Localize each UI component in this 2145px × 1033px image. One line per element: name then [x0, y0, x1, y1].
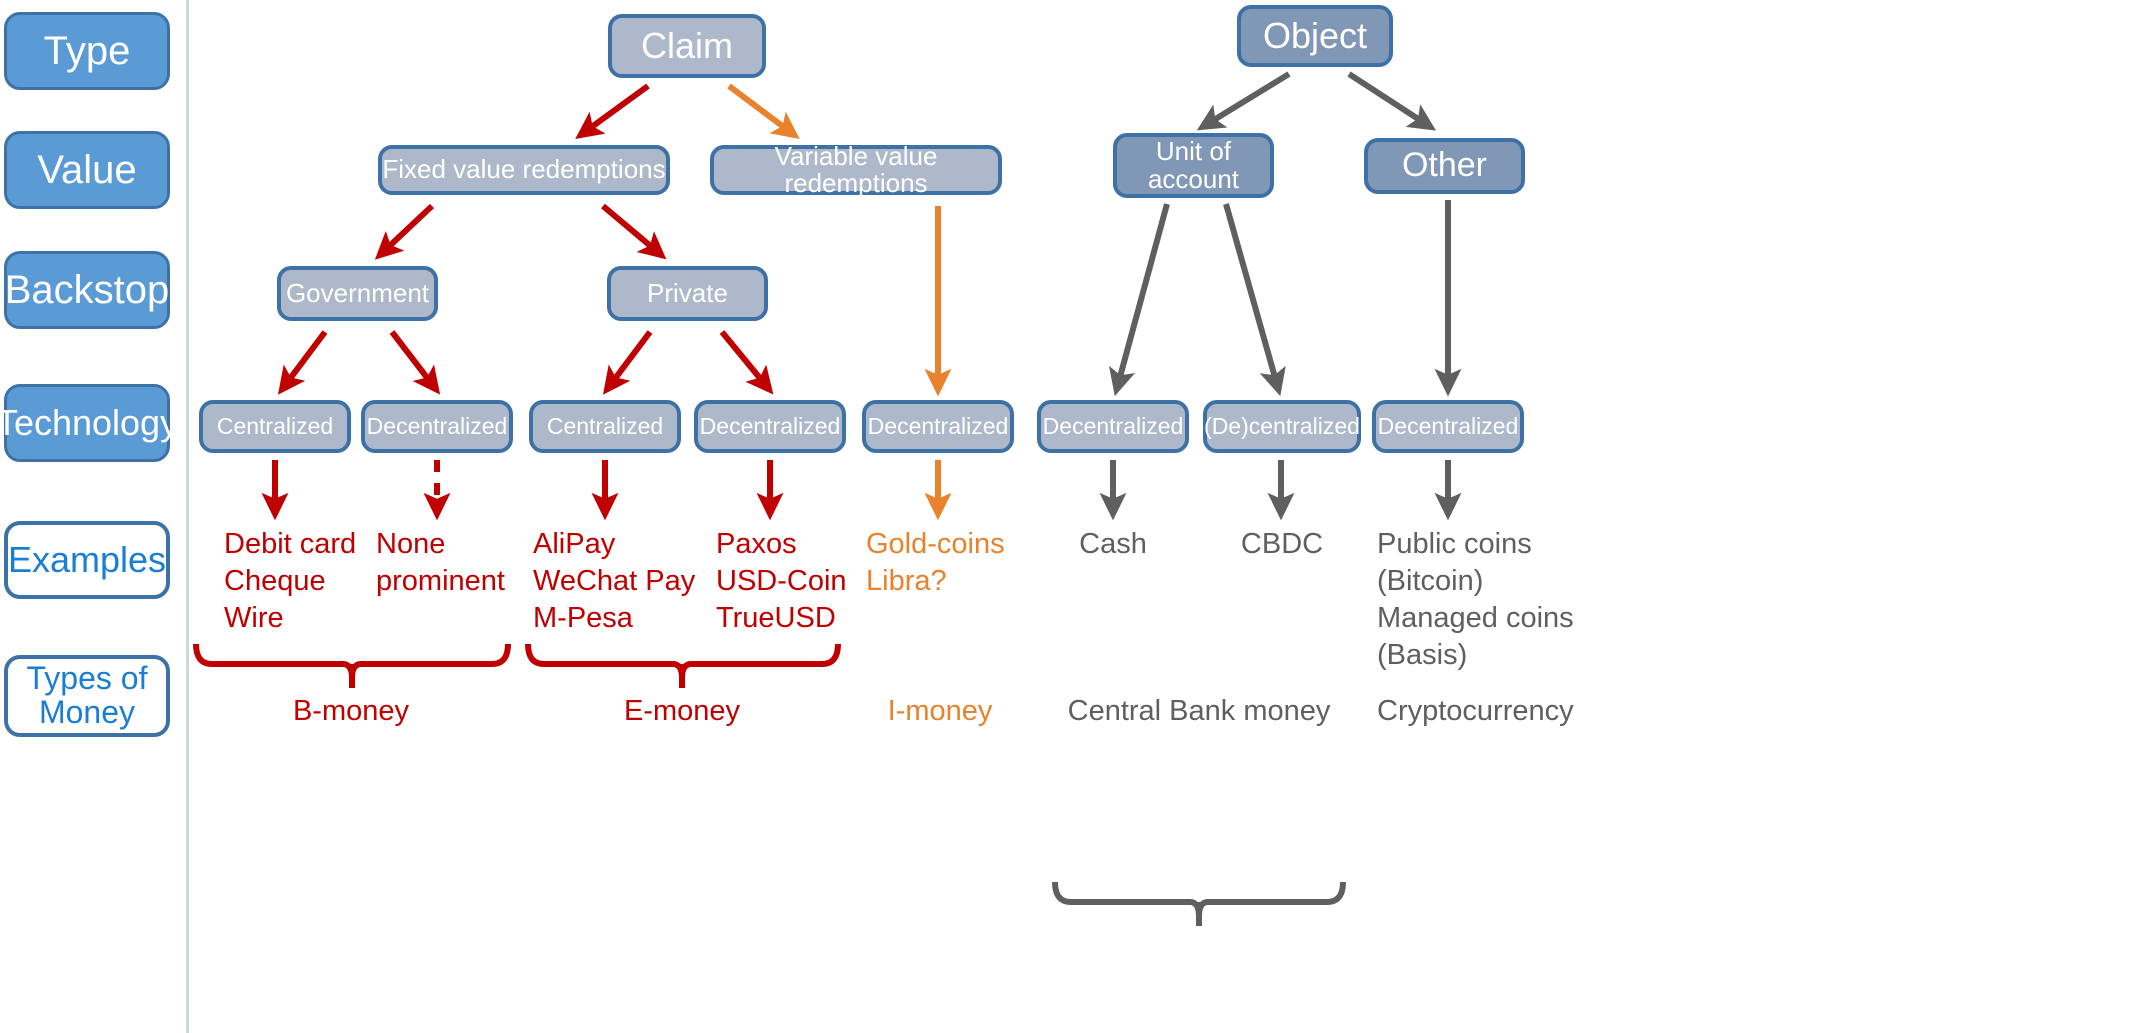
node-government[interactable]: Government [277, 266, 438, 321]
examples-private-centralized: AliPay WeChat Pay M-Pesa [533, 526, 733, 637]
arrow-government-to-decentralized [392, 332, 435, 388]
examples-variable-value: Gold-coins Libra? [866, 526, 1046, 600]
arrow-claim-to-variable [729, 86, 793, 134]
rail-divider [186, 0, 189, 1033]
node-fixed-value-redemptions[interactable]: Fixed value redemptions [378, 145, 670, 195]
arrow-uoa-to-de-centralized [1226, 204, 1278, 388]
examples-other: Public coins (Bitcoin) Managed coins (Ba… [1377, 526, 1607, 674]
money-type-b-money: B-money [228, 693, 474, 730]
node-other[interactable]: Other [1364, 138, 1525, 194]
node-tech-private-centralized[interactable]: Centralized [529, 400, 681, 453]
examples-gov-decentralized: None prominent [376, 526, 556, 600]
node-tech-uoa-de-centralized[interactable]: (De)centralized [1203, 400, 1361, 453]
arrow-private-to-centralized [608, 332, 650, 388]
examples-cash: Cash [1037, 526, 1189, 563]
rail-label-technology: Technology [4, 384, 170, 462]
brace-central-bank-money [1055, 882, 1343, 916]
money-type-e-money: E-money [552, 693, 812, 730]
node-tech-other-decentralized[interactable]: Decentralized [1372, 400, 1524, 453]
arrow-fixed-to-government [381, 206, 432, 254]
arrow-private-to-decentralized [722, 332, 768, 388]
arrow-uoa-to-decentralized [1117, 204, 1167, 388]
arrow-fixed-to-private [603, 206, 660, 254]
brace-b-money [196, 644, 508, 678]
arrow-object-to-other [1349, 74, 1429, 126]
node-tech-uoa-decentralized[interactable]: Decentralized [1037, 400, 1189, 453]
examples-cbdc: CBDC [1203, 526, 1361, 563]
node-claim[interactable]: Claim [608, 14, 766, 78]
node-tech-gov-centralized[interactable]: Centralized [199, 400, 351, 453]
rail-label-examples: Examples [4, 521, 170, 599]
diagram-canvas: Type Value Backstop Technology Examples … [0, 0, 2145, 1033]
brace-e-money [528, 644, 838, 678]
money-type-i-money: I-money [866, 693, 1014, 730]
node-variable-value-redemptions[interactable]: Variable value redemptions [710, 145, 1002, 195]
node-object[interactable]: Object [1237, 5, 1393, 67]
rail-label-types-of-money: Types of Money [4, 655, 170, 737]
arrow-object-to-unit-of-account [1204, 74, 1289, 126]
money-type-cryptocurrency: Cryptocurrency [1377, 693, 1607, 730]
connector-layer [0, 0, 2145, 1033]
node-unit-of-account[interactable]: Unit of account [1113, 133, 1274, 198]
rail-label-type: Type [4, 12, 170, 90]
arrow-government-to-centralized [283, 332, 325, 388]
rail-label-value: Value [4, 131, 170, 209]
node-tech-variable-decentralized[interactable]: Decentralized [862, 400, 1014, 453]
node-tech-private-decentralized[interactable]: Decentralized [694, 400, 846, 453]
node-tech-gov-decentralized[interactable]: Decentralized [361, 400, 513, 453]
node-private[interactable]: Private [607, 266, 768, 321]
rail-label-backstop: Backstop [4, 251, 170, 329]
money-type-central-bank-money: Central Bank money [1037, 693, 1361, 730]
arrow-claim-to-fixed [582, 86, 648, 134]
